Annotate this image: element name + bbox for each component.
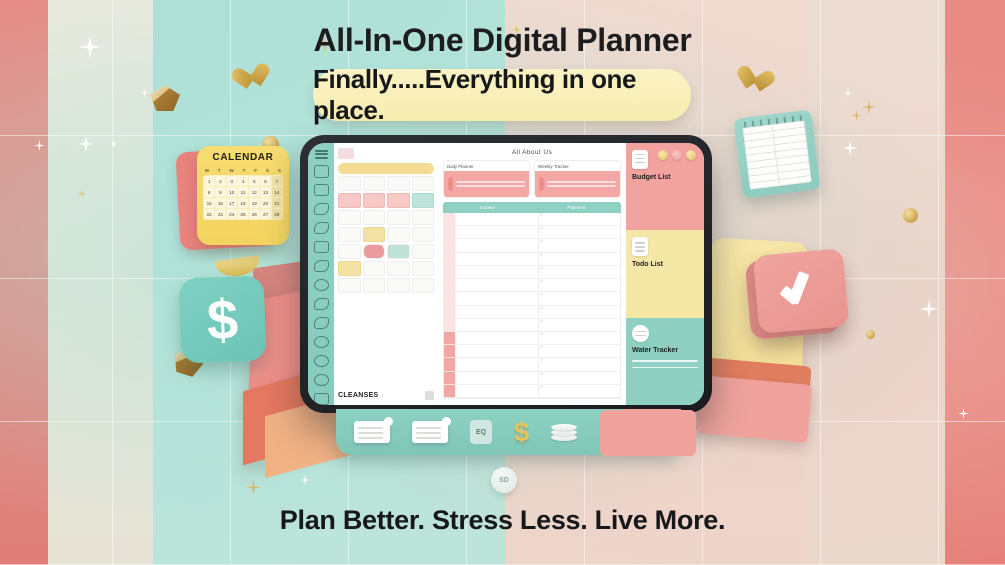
calendar-date-cell[interactable]: 13 bbox=[260, 187, 270, 197]
table-cell[interactable]: 0 bbox=[538, 358, 621, 371]
app-content: CLEANSES All About Us Daily Planner Week… bbox=[334, 143, 704, 405]
calendar-card[interactable]: CALENDAR M T W T F S S 1 2 3 4 5 6 7 8 9… bbox=[197, 146, 289, 245]
book-icon[interactable] bbox=[314, 184, 329, 196]
calendar-dow: W bbox=[229, 168, 233, 173]
cloud-icon[interactable] bbox=[314, 298, 329, 310]
table-cell[interactable]: 0 bbox=[538, 345, 621, 358]
maximize-button[interactable] bbox=[686, 150, 696, 160]
close-button[interactable] bbox=[672, 150, 682, 160]
calendar-dow: T bbox=[243, 168, 246, 173]
calendar-date-cell[interactable]: 12 bbox=[249, 187, 259, 197]
calendar-date-cell[interactable]: 8 bbox=[204, 187, 214, 197]
left-panel-footer: CLEANSES bbox=[338, 388, 434, 400]
calendar-date-grid[interactable]: 1 2 3 4 5 6 7 8 9 10 11 12 13 14 15 16 1… bbox=[203, 175, 283, 220]
table-row[interactable] bbox=[338, 176, 434, 191]
calendar-date-cell[interactable]: 20 bbox=[260, 198, 270, 208]
note-icon[interactable] bbox=[314, 222, 329, 234]
table-cell[interactable]: 0 bbox=[538, 319, 621, 332]
oval-icon[interactable] bbox=[314, 374, 329, 386]
note-icon[interactable] bbox=[412, 421, 448, 443]
table-cell[interactable]: 0 bbox=[538, 253, 621, 266]
heart-icon[interactable] bbox=[314, 317, 329, 329]
coin-icon bbox=[866, 330, 875, 339]
tag-icon[interactable] bbox=[314, 260, 329, 272]
calendar-date-cell[interactable]: 7 bbox=[272, 176, 282, 186]
table-cell[interactable]: 0 bbox=[538, 372, 621, 385]
calendar-date-cell[interactable]: 26 bbox=[249, 209, 259, 219]
right-panel-stack[interactable]: Budget List Todo List Water Tracker bbox=[626, 143, 704, 405]
calendar-dow: S bbox=[266, 168, 269, 173]
calendar-date-cell[interactable]: 11 bbox=[238, 187, 248, 197]
table-cell[interactable]: 0 bbox=[538, 279, 621, 292]
tracker-lines bbox=[632, 360, 698, 368]
wallet-icon[interactable] bbox=[314, 241, 329, 253]
table-cell[interactable]: 0 bbox=[538, 306, 621, 319]
center-panel[interactable]: All About Us Daily Planner Weekly Tracke… bbox=[438, 143, 626, 405]
menu-icon[interactable] bbox=[315, 150, 328, 159]
coin-icon bbox=[903, 208, 918, 223]
calendar-date-cell[interactable]: 16 bbox=[215, 198, 225, 208]
note-icon[interactable] bbox=[354, 421, 390, 443]
calendar-date-cell[interactable]: 22 bbox=[204, 209, 214, 219]
table-header-cell: Payment bbox=[532, 202, 621, 213]
app-sidebar[interactable] bbox=[308, 143, 334, 405]
table-column-income[interactable] bbox=[455, 213, 538, 398]
decor-card-pink-right bbox=[696, 375, 813, 443]
notepad-card[interactable] bbox=[733, 110, 820, 199]
table-header-cell: Income bbox=[443, 202, 532, 213]
panel-label: Water Tracker bbox=[632, 347, 698, 355]
highlight-pill bbox=[338, 163, 434, 174]
tagline: Plan Better. Stress Less. Live More. bbox=[0, 505, 1005, 536]
highlight-banner: Finally.....Everything in one place. bbox=[313, 69, 691, 121]
background-band-right-pink bbox=[945, 0, 1005, 565]
circle-icon[interactable] bbox=[314, 355, 329, 367]
avatar bbox=[448, 177, 453, 191]
calendar-date-cell[interactable]: 9 bbox=[215, 187, 225, 197]
left-table-panel[interactable]: CLEANSES bbox=[334, 143, 438, 405]
panel-thumbnail bbox=[338, 148, 354, 159]
table-row[interactable] bbox=[338, 227, 434, 242]
table-cell[interactable]: 0 bbox=[538, 332, 621, 345]
calendar-dow: F bbox=[254, 168, 257, 173]
calendar-date-cell[interactable]: 14 bbox=[272, 187, 282, 197]
decor-sticky-pink bbox=[600, 410, 696, 456]
panel-label: Todo List bbox=[632, 261, 698, 269]
table-row[interactable] bbox=[338, 210, 434, 225]
table-header-row: Income Payment bbox=[443, 202, 621, 213]
summary-card-header: Weekly Tracker bbox=[535, 161, 620, 171]
document-icon bbox=[632, 150, 648, 169]
calendar-title: CALENDAR bbox=[203, 152, 283, 163]
calendar-date-cell[interactable]: 28 bbox=[272, 209, 282, 219]
calendar-date-cell[interactable]: 17 bbox=[227, 198, 237, 208]
calendar-date-cell[interactable]: 19 bbox=[249, 198, 259, 208]
page-title: All-In-One Digital Planner bbox=[0, 22, 1005, 59]
stand-base: SD bbox=[491, 467, 517, 493]
calendar-date-cell[interactable]: 25 bbox=[238, 209, 248, 219]
calendar-date-cell[interactable]: 4 bbox=[238, 176, 248, 186]
dollar-icon: $ bbox=[206, 291, 239, 348]
calendar-date-cell[interactable]: 5 bbox=[249, 176, 259, 186]
calendar-date-cell[interactable]: 6 bbox=[260, 176, 270, 186]
table-row-labels bbox=[444, 213, 455, 398]
table-cell[interactable]: 0 bbox=[538, 213, 621, 226]
dollar-badge[interactable]: $ bbox=[179, 276, 267, 364]
calendar-date-cell[interactable]: 24 bbox=[227, 209, 237, 219]
notepad-paper bbox=[743, 120, 812, 189]
tablet-screen[interactable]: CLEANSES All About Us Daily Planner Week… bbox=[308, 143, 704, 405]
check-card[interactable] bbox=[753, 248, 849, 334]
table-column-payment[interactable]: 0 0 0 0 0 0 1 0 0 0 0 0 0 bbox=[538, 213, 621, 398]
table-row[interactable] bbox=[338, 261, 434, 276]
grid-icon[interactable] bbox=[314, 165, 329, 177]
coins-icon[interactable] bbox=[551, 423, 577, 441]
tablet-device: CLEANSES All About Us Daily Planner Week… bbox=[300, 135, 712, 413]
minimize-button[interactable] bbox=[658, 150, 668, 160]
droplet-icon bbox=[632, 325, 649, 342]
avatar bbox=[539, 177, 544, 191]
table-cell[interactable]: 0 bbox=[538, 239, 621, 252]
calendar-date-cell[interactable]: 18 bbox=[238, 198, 248, 208]
calendar-dow: S bbox=[278, 168, 281, 173]
calendar-date-cell[interactable]: 21 bbox=[272, 198, 282, 208]
table-body[interactable]: 0 0 0 0 0 0 1 0 0 0 0 0 0 bbox=[443, 213, 621, 399]
table-cell[interactable]: 0 bbox=[538, 226, 621, 239]
spiral-icon[interactable] bbox=[314, 336, 329, 348]
calendar-date-cell[interactable]: 2 bbox=[215, 176, 225, 186]
calendar-date-cell[interactable]: 23 bbox=[215, 209, 225, 219]
table-row[interactable] bbox=[338, 278, 434, 293]
center-cards[interactable]: Daily Planner Weekly Tracker bbox=[443, 160, 621, 198]
background-band-left-pink bbox=[0, 0, 48, 565]
calendar-day-headers: M T W T F S S bbox=[205, 168, 281, 173]
briefcase-icon[interactable] bbox=[314, 393, 329, 405]
check-icon bbox=[781, 274, 822, 309]
summary-card[interactable]: Weekly Tracker bbox=[534, 160, 621, 198]
center-panel-title: All About Us bbox=[443, 149, 621, 156]
calendar-date-cell[interactable]: 10 bbox=[227, 187, 237, 197]
table-row[interactable] bbox=[338, 193, 434, 208]
table-cell[interactable]: 1 bbox=[538, 292, 621, 305]
heart-icon bbox=[734, 66, 764, 95]
calculator-button[interactable]: EQ bbox=[470, 420, 492, 444]
panel-label: Budget List bbox=[632, 174, 698, 182]
calendar-date-cell[interactable]: 1 bbox=[204, 176, 214, 186]
poster-canvas: All-In-One Digital Planner Finally.....E… bbox=[0, 0, 1005, 565]
banner-text: Finally.....Everything in one place. bbox=[313, 64, 691, 126]
summary-card-header: Daily Planner bbox=[444, 161, 529, 171]
pie-chart-icon[interactable] bbox=[314, 279, 329, 291]
panel-water-tracker[interactable]: Water Tracker bbox=[626, 318, 704, 405]
table-row[interactable] bbox=[338, 244, 434, 259]
thumbnail-icon bbox=[425, 391, 434, 400]
window-controls[interactable] bbox=[658, 150, 696, 160]
dollar-icon[interactable]: $ bbox=[514, 419, 529, 446]
table-cell[interactable]: 0 bbox=[538, 266, 621, 279]
summary-card-body bbox=[535, 171, 620, 197]
summary-card[interactable]: Daily Planner bbox=[443, 160, 530, 198]
calendar-date-cell[interactable]: 15 bbox=[204, 198, 214, 208]
calendar-dow: M bbox=[205, 168, 209, 173]
left-panel-footer-label: CLEANSES bbox=[338, 392, 379, 399]
calendar-date-cell[interactable]: 3 bbox=[227, 176, 237, 186]
panel-todo-list[interactable]: Todo List bbox=[626, 230, 704, 317]
folder-icon[interactable] bbox=[314, 203, 329, 215]
calendar-date-cell[interactable]: 27 bbox=[260, 209, 270, 219]
summary-card-body bbox=[444, 171, 529, 197]
calendar-dow: T bbox=[218, 168, 221, 173]
background-band-left-cream bbox=[48, 0, 153, 565]
clipboard-icon bbox=[632, 237, 648, 256]
table-cell[interactable]: 0 bbox=[538, 385, 621, 398]
